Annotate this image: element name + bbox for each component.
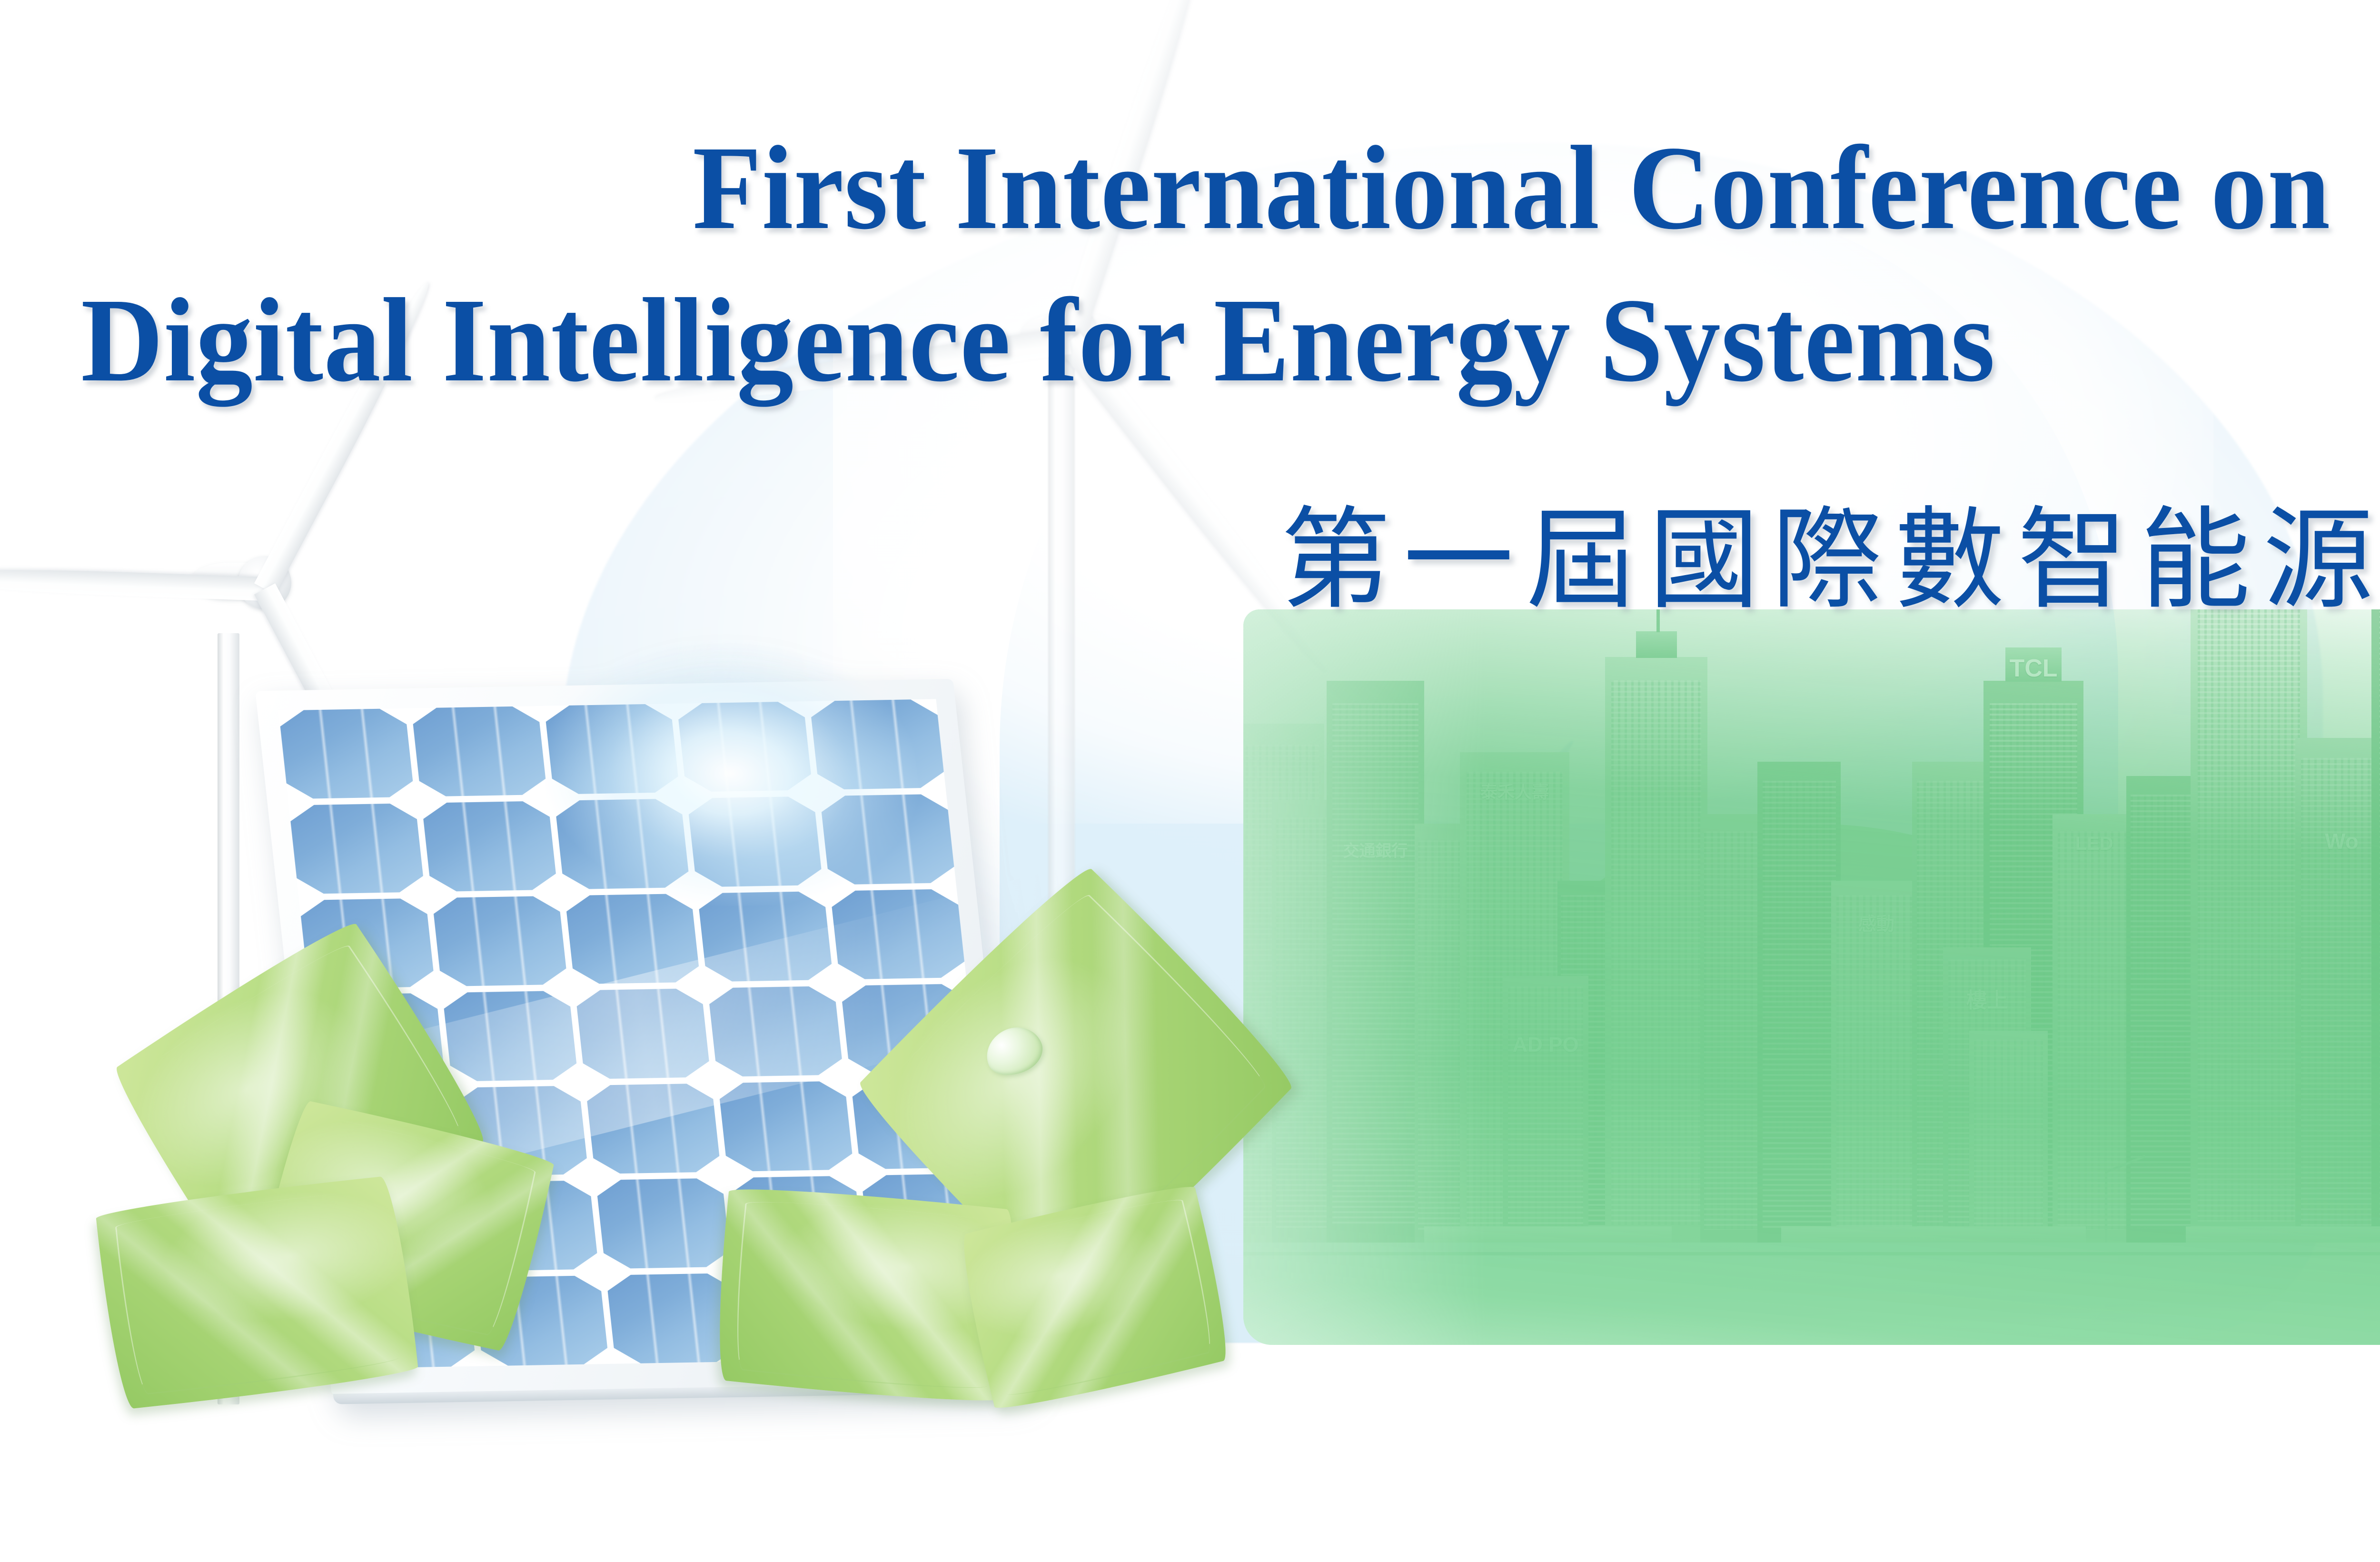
skyline-sign: LED	[2075, 833, 2113, 855]
skyline-sign: TCL	[2009, 654, 2057, 683]
skyline-sign: 樓上	[1966, 983, 2008, 1014]
skyline-sign: AD PO	[1512, 1033, 1578, 1057]
skyline-sign: 泰禾人壽	[1480, 778, 1549, 803]
waterline	[1243, 1252, 2380, 1255]
skyline-sign: Wo	[2325, 828, 2359, 854]
conference-banner: 交通銀行 泰禾人壽 AD PO 感動 TCL LED 樓上	[0, 0, 2380, 1562]
harbour-water	[1243, 1243, 2380, 1345]
leaf-cluster-left	[124, 966, 647, 1447]
skyline-sign: 感動	[1858, 909, 1894, 935]
city-skyline-icon: 交通銀行 泰禾人壽 AD PO 感動 TCL LED 樓上	[1243, 609, 2380, 1345]
leaf-icon	[95, 1175, 419, 1411]
leaf-cluster-right	[704, 919, 1276, 1433]
